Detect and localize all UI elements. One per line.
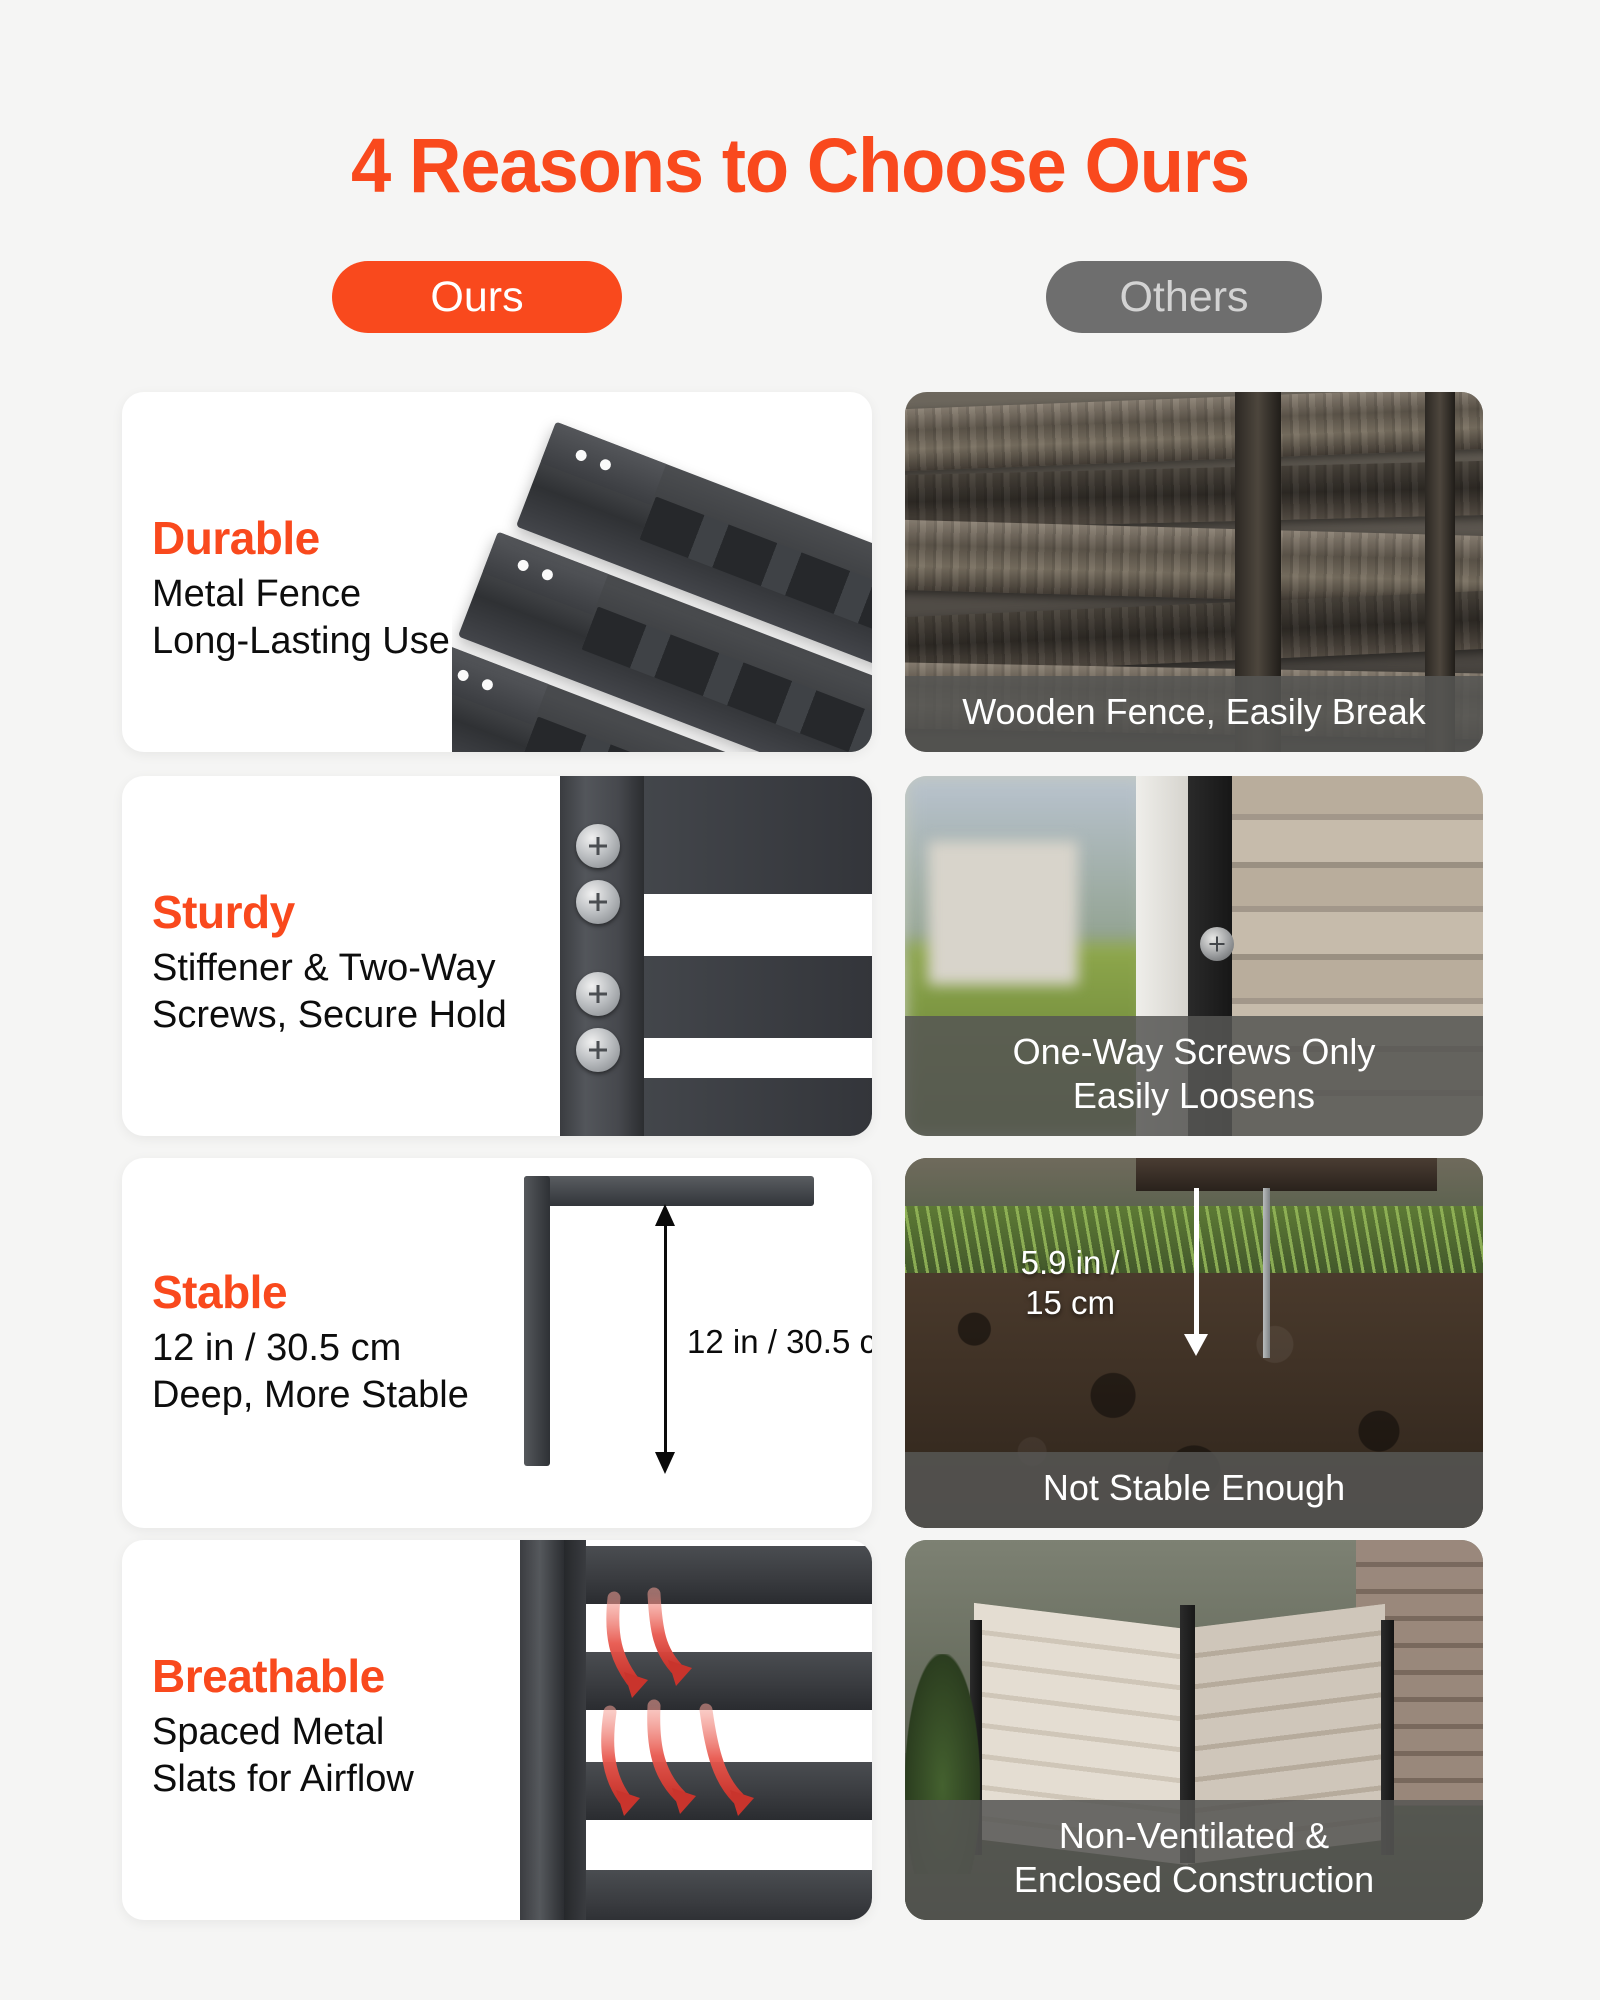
feature-title-sturdy: Sturdy [152, 888, 507, 936]
page-title: 4 Reasons to Choose Ours [48, 122, 1552, 211]
l-bracket-anchor-image: 12 in / 30.5 cm [512, 1158, 872, 1528]
comparison-header-pills: Ours Others [0, 261, 1600, 333]
pill-ours: Ours [332, 261, 622, 333]
others-caption-sturdy: One-Way Screws Only Easily Loosens [905, 1016, 1483, 1136]
airflow-arrows-icon [580, 1540, 872, 1920]
others-card-durable: Wooden Fence, Easily Break [905, 392, 1483, 752]
feature-title-breathable: Breathable [152, 1652, 414, 1700]
comparison-row-stable: 12 in / 30.5 cm Stable 12 in / 30.5 cm D… [0, 1158, 1600, 1528]
screw-icon [576, 1028, 620, 1072]
feature-text-durable: Durable Metal Fence Long-Lasting Use [152, 514, 450, 664]
screw-icon [576, 880, 620, 924]
pill-others-label: Others [1119, 273, 1248, 322]
comparison-infographic: 4 Reasons to Choose Ours Ours Others Dur… [0, 0, 1600, 2000]
metal-post-two-way-screws-image [542, 776, 872, 1136]
pill-ours-label: Ours [430, 273, 523, 322]
feature-desc-sturdy: Stiffener & Two-Way Screws, Secure Hold [152, 945, 507, 1038]
feature-title-stable: Stable [152, 1268, 469, 1316]
comparison-row-sturdy: Sturdy Stiffener & Two-Way Screws, Secur… [0, 776, 1600, 1136]
metal-slat-panels-image [452, 392, 872, 752]
others-caption-breathable: Non-Ventilated & Enclosed Construction [905, 1800, 1483, 1920]
feature-title-durable: Durable [152, 514, 450, 562]
feature-desc-durable: Metal Fence Long-Lasting Use [152, 571, 450, 664]
feature-text-stable: Stable 12 in / 30.5 cm Deep, More Stable [152, 1268, 469, 1418]
comparison-row-breathable: Breathable Spaced Metal Slats for Airflo… [0, 1540, 1600, 1920]
ours-dimension-label: 12 in / 30.5 cm [687, 1323, 872, 1361]
others-card-stable: 5.9 in / 15 cm Not Stable Enough [905, 1158, 1483, 1528]
others-card-sturdy: One-Way Screws Only Easily Loosens [905, 776, 1483, 1136]
dimension-arrow-icon [664, 1224, 667, 1454]
feature-text-breathable: Breathable Spaced Metal Slats for Airflo… [152, 1652, 414, 1802]
feature-text-sturdy: Sturdy Stiffener & Two-Way Screws, Secur… [152, 888, 507, 1038]
others-dimension-label: 5.9 in / 15 cm [1021, 1243, 1120, 1322]
depth-arrow-icon [1194, 1188, 1199, 1336]
screw-icon [576, 824, 620, 868]
screw-icon [576, 972, 620, 1016]
others-card-breathable: Non-Ventilated & Enclosed Construction [905, 1540, 1483, 1920]
comparison-row-durable: Durable Metal Fence Long-Lasting Use Woo… [0, 392, 1600, 752]
others-caption-durable: Wooden Fence, Easily Break [905, 676, 1483, 752]
others-caption-stable: Not Stable Enough [905, 1452, 1483, 1528]
feature-desc-breathable: Spaced Metal Slats for Airflow [152, 1709, 414, 1802]
spaced-metal-slats-image [520, 1540, 872, 1920]
feature-desc-stable: 12 in / 30.5 cm Deep, More Stable [152, 1325, 469, 1418]
pill-others: Others [1046, 261, 1322, 333]
screw-icon [1200, 927, 1234, 961]
